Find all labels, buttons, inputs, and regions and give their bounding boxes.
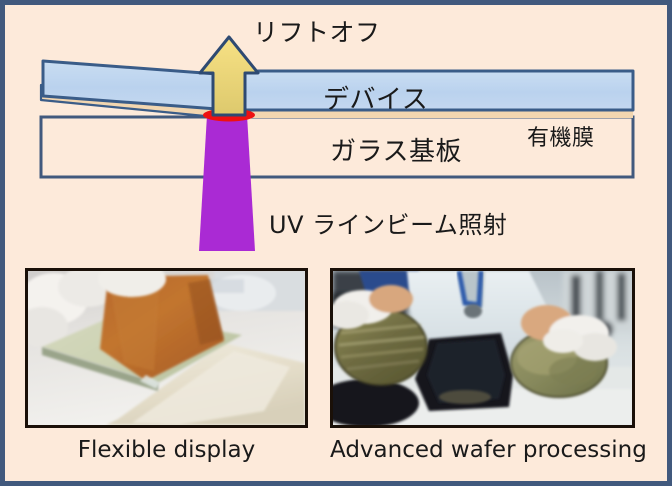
label-glass-substrate: ガラス基板 [330,131,462,168]
panel-flexible-display: Flexible display [25,268,308,463]
label-liftoff: リフトオフ [253,13,381,49]
uv-line-beam [199,115,255,251]
panel-advanced-wafer-processing: Advanced wafer processing [330,268,635,463]
caption-advanced-wafer-processing: Advanced wafer processing [330,437,635,463]
slide-root: リフトオフ デバイス ガラス基板 有機膜 UV ラインビーム照射 [0,0,672,486]
caption-flexible-display: Flexible display [25,437,308,463]
photo-flexible-display [25,268,308,428]
label-uv-line-beam: UV ラインビーム照射 [269,205,507,240]
label-device: デバイス [323,79,428,116]
photo-advanced-wafer-processing [330,268,635,428]
liftoff-schematic: リフトオフ デバイス ガラス基板 有機膜 UV ラインビーム照射 [5,5,672,255]
label-organic-film: 有機膜 [527,120,595,152]
